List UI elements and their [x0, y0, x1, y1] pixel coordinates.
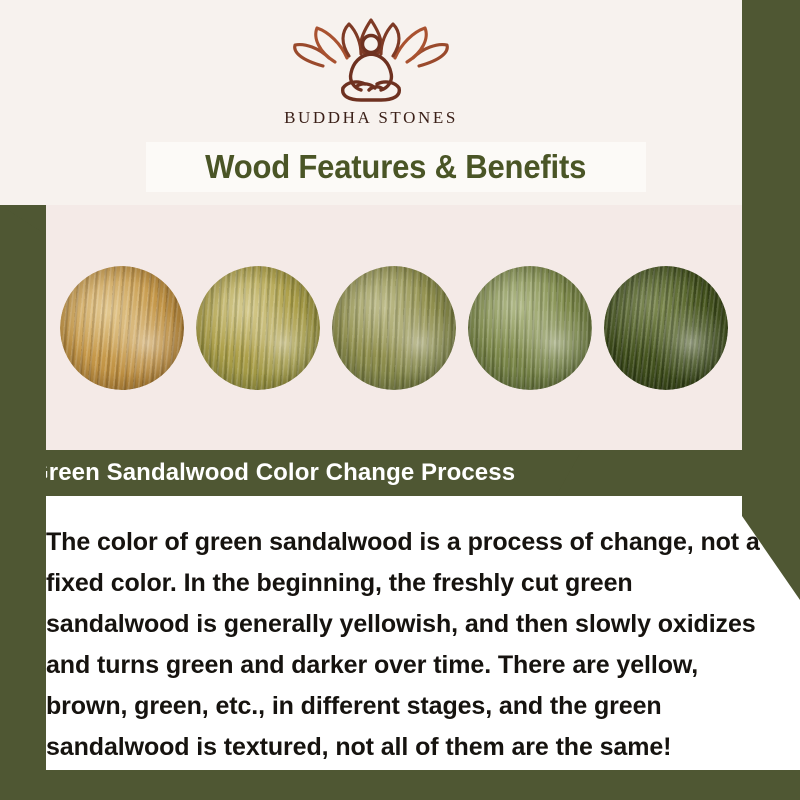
frame-band-bottom: [0, 770, 800, 800]
bead-row: [46, 205, 742, 450]
description-text: The color of green sandalwood is a proce…: [46, 522, 764, 768]
lotus-meditation-figure-icon: [283, 16, 459, 102]
bead-sheen: [468, 266, 592, 390]
brand-logo: BUDDHA STONES: [0, 16, 742, 128]
bead-stage-3: [332, 266, 456, 390]
bead-sheen: [196, 266, 320, 390]
page-title: Wood Features & Benefits: [205, 148, 586, 186]
bead-showcase-zone: [46, 205, 742, 450]
section-title: Green Sandalwood Color Change Process: [30, 459, 515, 487]
frame-band-right: [742, 0, 800, 600]
bead-sheen: [604, 266, 728, 390]
bead-stage-2: [196, 266, 320, 390]
infographic-canvas: BUDDHA STONES Wood Features & Benefits: [0, 0, 800, 800]
title-banner: Wood Features & Benefits: [146, 142, 646, 192]
frame-band-left: [0, 205, 46, 800]
header-zone: BUDDHA STONES Wood Features & Benefits: [0, 0, 742, 205]
bead-stage-5: [604, 266, 728, 390]
bead-stage-1: [60, 266, 184, 390]
description-panel: The color of green sandalwood is a proce…: [46, 496, 800, 770]
bead-sheen: [332, 266, 456, 390]
bead-stage-4: [468, 266, 592, 390]
bead-sheen: [60, 266, 184, 390]
brand-name: BUDDHA STONES: [284, 108, 458, 128]
section-banner: Green Sandalwood Color Change Process: [0, 450, 582, 496]
